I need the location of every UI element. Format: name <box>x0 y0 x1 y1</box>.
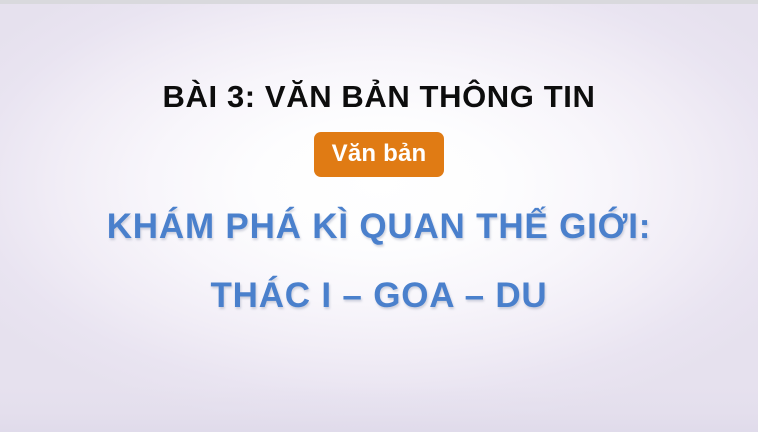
page-title-line-1: KHÁM PHÁ KÌ QUAN THẾ GIỚI: <box>107 209 652 244</box>
document-type-badge: Văn bản <box>314 132 445 177</box>
slide-canvas: BÀI 3: VĂN BẢN THÔNG TIN Văn bản KHÁM PH… <box>0 0 758 432</box>
slide-content: BÀI 3: VĂN BẢN THÔNG TIN Văn bản KHÁM PH… <box>0 4 758 432</box>
lesson-heading: BÀI 3: VĂN BẢN THÔNG TIN <box>163 80 596 114</box>
badge-row: Văn bản <box>314 132 445 177</box>
page-title: KHÁM PHÁ KÌ QUAN THẾ GIỚI: THÁC I – GOA … <box>107 209 652 313</box>
page-title-line-2: THÁC I – GOA – DU <box>107 278 652 313</box>
